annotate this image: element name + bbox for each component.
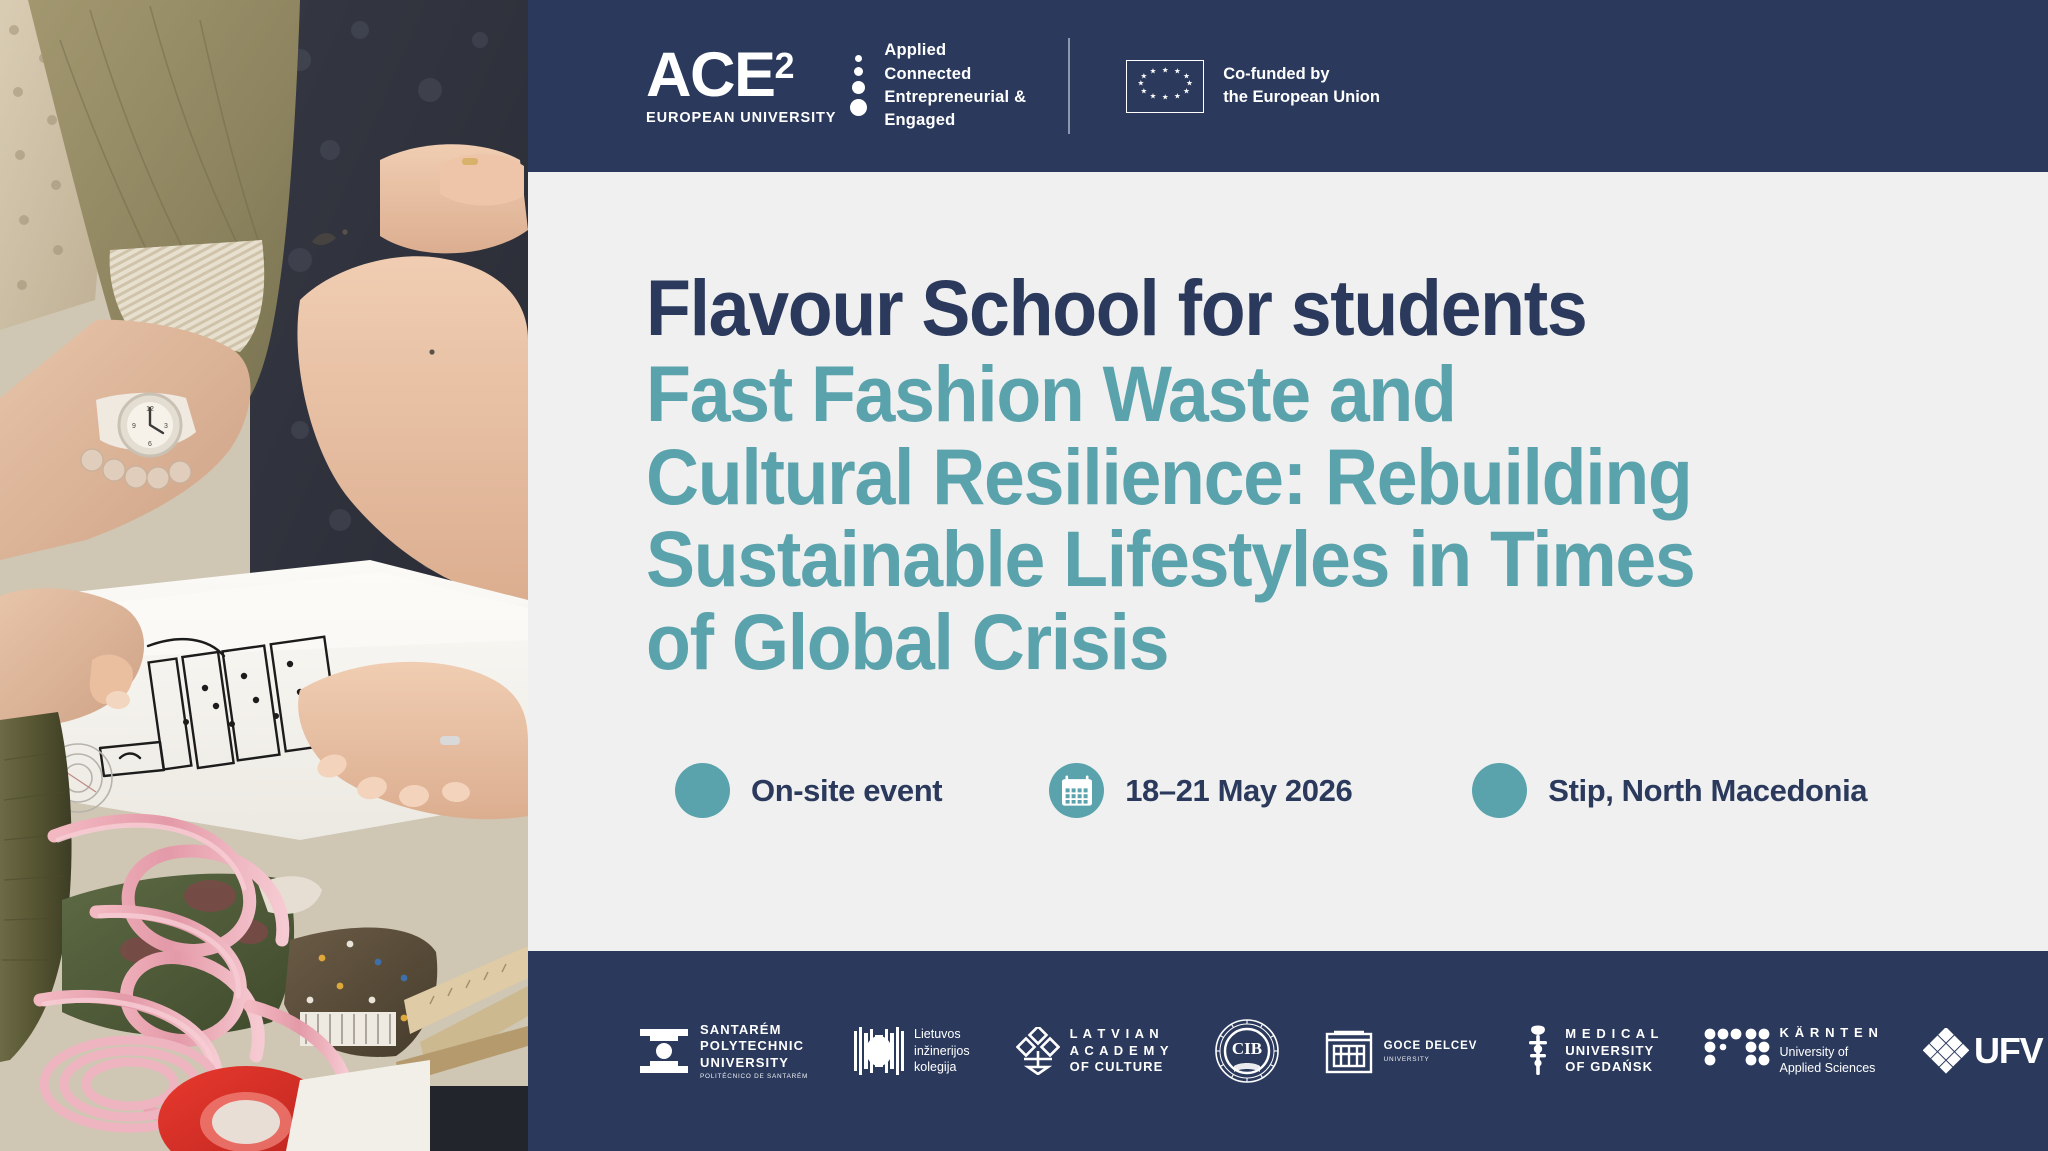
ufv-wordmark: UFV [1974,1033,2042,1069]
eu-cofunding-line-2: the European Union [1223,86,1380,109]
santarem-name-1: SANTARÉM [700,1022,808,1039]
calendar-icon [1049,763,1104,818]
meta-item-location: Stip, North Macedonia [1472,763,1867,818]
partner-logo-goce-delcev: GOCE DELCEV UNIVERSITY [1324,1026,1478,1076]
gdansk-name-1: M E D I C A L [1565,1026,1659,1043]
ace2-wordmark: ACE2 EUROPEAN UNIVERSITY [646,46,836,127]
latvian-name-3: OF CULTURE [1070,1059,1170,1076]
eu-cofunding-text: Co-funded by the European Union [1223,63,1380,110]
partner-logo-ufv: UFV Universidad Francisco de Vitoria [1923,1028,2048,1074]
goce-text: GOCE DELCEV UNIVERSITY [1384,1039,1478,1063]
eu-cofunding-logo: ★ ★ ★ ★ ★ ★ ★ ★ ★ ★ ★ ★ Co-funded by the… [1126,60,1380,113]
dot-small-icon [855,55,862,62]
ace2-acronym-text: ACE [646,46,775,106]
tagline-line-1: Applied [884,39,1026,62]
cib-seal-icon: CIB [1214,1018,1280,1084]
partner-logo-cib: CIB [1214,1018,1280,1084]
latvian-tree-mark-icon [1016,1027,1060,1075]
calendar-glyph [1062,775,1092,806]
lietuvos-line-1: Lietuvos [914,1026,970,1043]
latvian-name-1: L A T V I A N [1070,1026,1170,1043]
event-subtitle: Fast Fashion Waste and Cultural Resilien… [646,353,1725,683]
location-pin-icon [1472,763,1527,818]
ace2-superscript: 2 [775,48,794,84]
dot-large-icon [852,81,865,94]
hero-photo-illustration: 12369 [0,0,528,1151]
tagline-line-4: Engaged [884,109,1026,132]
event-banner: 12369 [0,0,2048,1151]
karnten-text: K Ä R N T E N University of Applied Scie… [1780,1025,1880,1077]
partner-logo-gdansk: M E D I C A L UNIVERSITY OF GDAŃSK [1521,1025,1659,1077]
gdansk-name-3: OF GDAŃSK [1565,1059,1659,1076]
latvian-name-2: A C A D E M Y [1070,1043,1170,1060]
ufv-diamond-mark-icon [1923,1028,1969,1074]
lietuvos-text: Lietuvos inžinerijos kolegija [914,1026,970,1076]
ace2-subtitle: EUROPEAN UNIVERSITY [646,110,836,126]
svg-text:3: 3 [164,423,168,430]
hero-photo: 12369 [0,0,528,1151]
svg-text:12: 12 [146,406,154,413]
goce-sub: UNIVERSITY [1384,1056,1478,1063]
meta-format-label: On-site event [751,773,942,809]
karnten-line-2: Applied Sciences [1780,1060,1880,1077]
tagline-line-2: Connected [884,63,1026,86]
partner-logo-latvian: L A T V I A N A C A D E M Y OF CULTURE [1016,1026,1170,1076]
event-meta-row: On-site event [646,763,2048,818]
meta-item-date: 18–21 May 2026 [1049,763,1352,818]
svg-text:9: 9 [132,423,136,430]
partner-logo-bar: SANTARÉM POLYTECHNIC UNIVERSITY POLITÉCN… [528,951,2048,1151]
asclepius-mark-icon [1521,1025,1555,1077]
gdansk-name-2: UNIVERSITY [1565,1043,1659,1060]
ace2-tagline: Applied Connected Entrepreneurial & Enga… [884,39,1026,133]
tagline-line-3: Entrepreneurial & [884,86,1026,109]
header-bar: ACE2 EUROPEAN UNIVERSITY Applied Connect… [528,0,2048,172]
ace2-dots-icon [850,55,867,118]
goce-building-mark-icon [1324,1026,1374,1076]
santarem-text: SANTARÉM POLYTECHNIC UNIVERSITY POLITÉCN… [700,1022,808,1081]
santarem-sub: POLITÉCNICO DE SANTARÉM [700,1073,808,1080]
dot-xlarge-icon [850,99,867,116]
event-title: Flavour School for students [646,268,2048,347]
main-body: Flavour School for students Fast Fashion… [528,172,2048,951]
goce-name: GOCE DELCEV [1384,1039,1478,1054]
lietuvos-line-3: kolegija [914,1059,970,1076]
meta-location-label: Stip, North Macedonia [1548,773,1867,809]
dot-medium-icon [854,67,863,76]
santarem-name-3: UNIVERSITY [700,1055,808,1072]
eu-cofunding-line-1: Co-funded by [1223,63,1380,86]
onsite-icon [675,763,730,818]
karnten-line-1: University of [1780,1044,1880,1061]
ace2-logo: ACE2 EUROPEAN UNIVERSITY Applied Connect… [646,39,1026,133]
header-divider [1068,38,1070,134]
gdansk-text: M E D I C A L UNIVERSITY OF GDAŃSK [1565,1026,1659,1076]
ace2-acronym: ACE2 [646,46,793,106]
eu-flag-icon: ★ ★ ★ ★ ★ ★ ★ ★ ★ ★ ★ ★ [1126,60,1204,113]
santarem-name-2: POLYTECHNIC [700,1038,808,1055]
partner-logo-santarem: SANTARÉM POLYTECHNIC UNIVERSITY POLITÉCN… [638,1022,808,1081]
svg-text:6: 6 [148,441,152,448]
santarem-mark-icon [638,1027,690,1075]
fh-dots-mark-icon [1704,1028,1770,1074]
lietuvos-line-2: inžinerijos [914,1043,970,1060]
meta-item-format: On-site event [675,763,942,818]
partner-logo-karnten: K Ä R N T E N University of Applied Scie… [1704,1025,1880,1077]
karnten-name: K Ä R N T E N [1780,1025,1880,1042]
cib-seal-label: CIB [1232,1039,1262,1058]
partner-logo-lietuvos: Lietuvos inžinerijos kolegija [854,1026,970,1076]
barcode-mark-icon [854,1027,904,1075]
meta-date-label: 18–21 May 2026 [1125,773,1352,809]
content-pane: ACE2 EUROPEAN UNIVERSITY Applied Connect… [528,0,2048,1151]
latvian-text: L A T V I A N A C A D E M Y OF CULTURE [1070,1026,1170,1076]
